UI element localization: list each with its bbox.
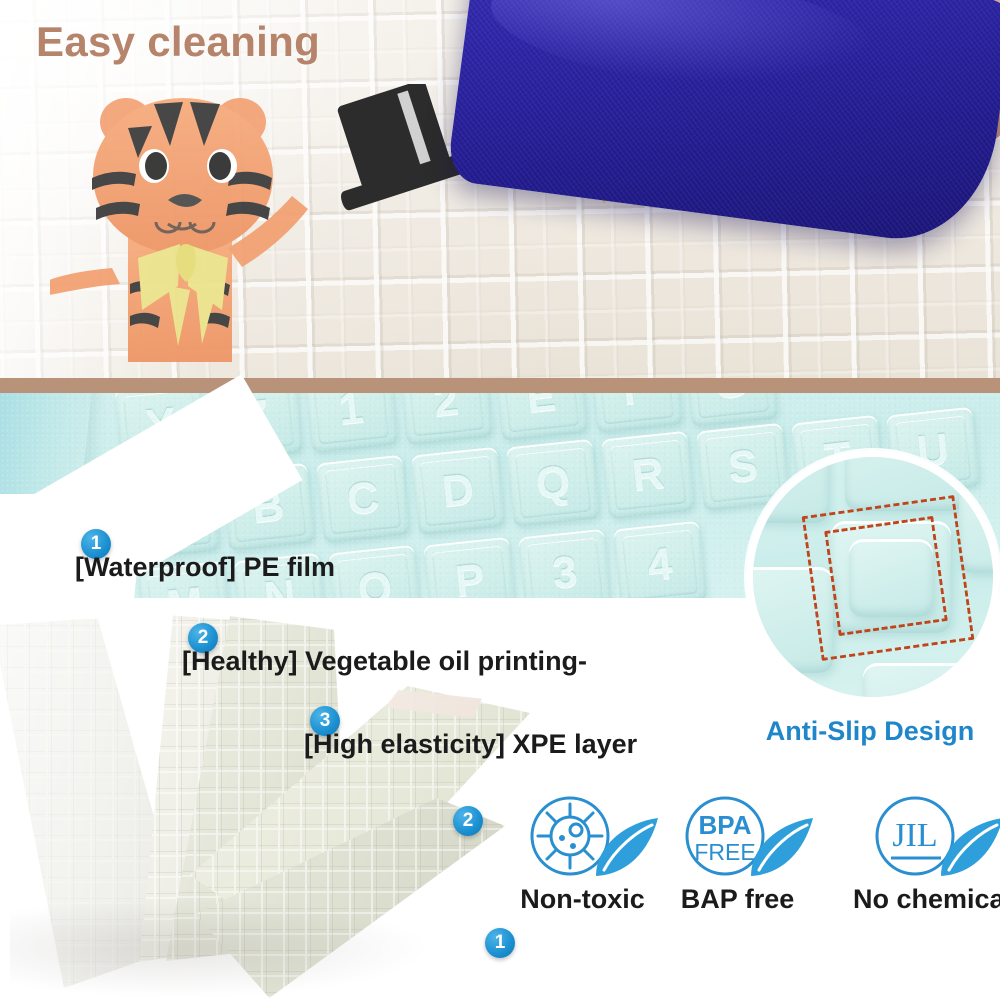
anti-slip-caption: Anti-Slip Design (740, 716, 1000, 747)
page-title: Easy cleaning (36, 18, 320, 66)
anti-slip-magnifier (746, 450, 1000, 704)
anti-slip-highlight-inner (824, 516, 948, 636)
sheet-shadow (10, 898, 430, 998)
layer-label-2: [Healthy] Vegetable oil printing- (182, 646, 587, 677)
bpa-free-leaf-icon: BPA FREE (655, 792, 820, 884)
eco-badge-no-chemical-smell: JIL No chemical sm (845, 792, 1000, 884)
svg-text:JIL: JIL (892, 817, 937, 854)
layer-label-3: [High elasticity] XPE layer (304, 729, 637, 760)
germ-leaf-icon (500, 792, 665, 884)
eco-badge-bpa-free: BPA FREE BAP free (655, 792, 820, 884)
eco-badge-caption: No chemical sm (853, 884, 1000, 915)
infographic-page: Easy cleaning Y Z 1 2 E F G A B C D Q R … (0, 0, 1000, 1000)
svg-text:FREE: FREE (694, 839, 755, 865)
eco-badge-row: Non-toxic BPA FREE BAP free JIL (500, 792, 1000, 937)
layer-label-1: [Waterproof] PE film (75, 552, 335, 583)
easy-cleaning-photo: Easy cleaning (0, 0, 1000, 378)
eco-badge-caption: BAP free (655, 884, 820, 915)
section-divider (0, 378, 1000, 393)
jil-leaf-icon: JIL (845, 792, 1000, 884)
magnified-tile (746, 450, 829, 523)
eco-badge-caption: Non-toxic (500, 884, 665, 915)
svg-text:BPA: BPA (699, 810, 752, 840)
loose-badge-2: 2 (453, 806, 483, 836)
eco-badge-non-toxic: Non-toxic (500, 792, 665, 884)
